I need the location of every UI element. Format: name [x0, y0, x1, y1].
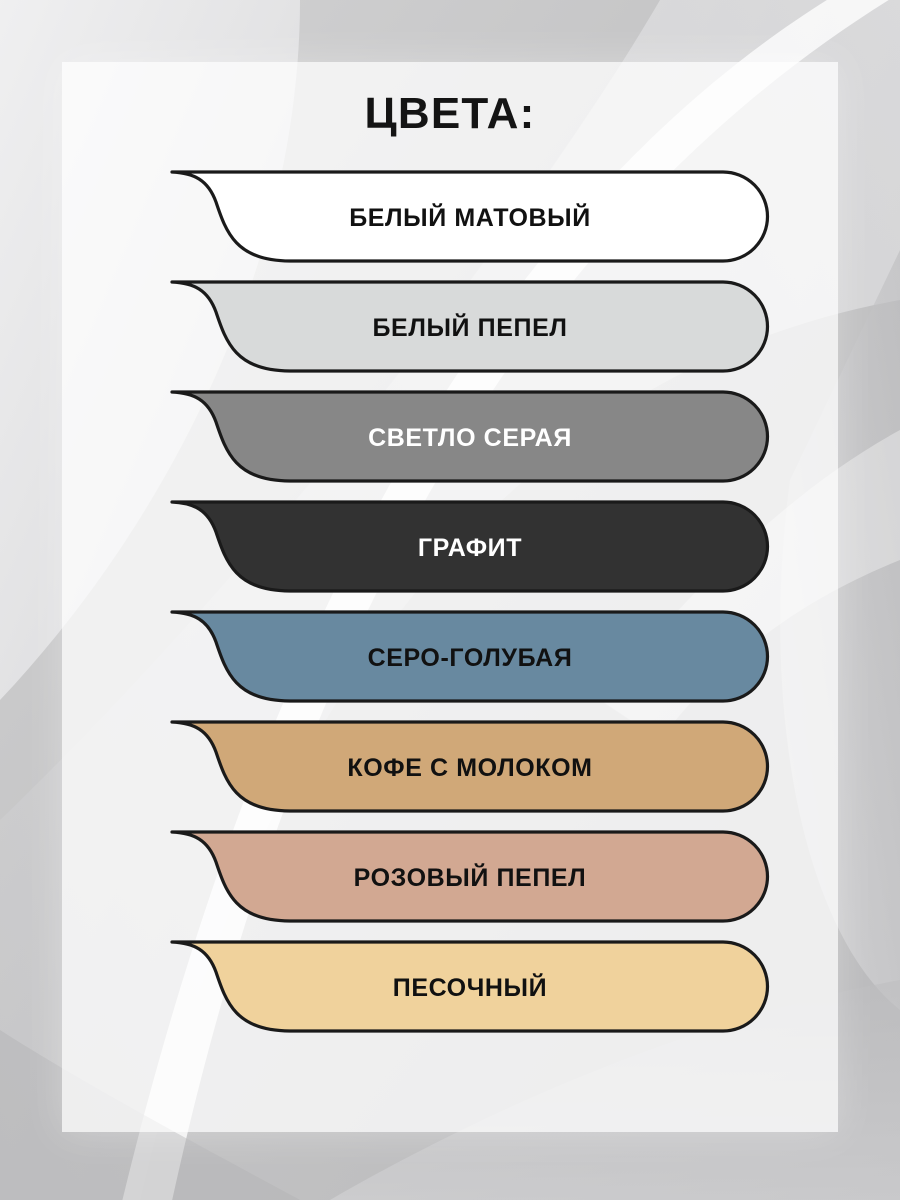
swatch-path-1 [172, 282, 768, 371]
color-swatch-list: БЕЛЫЙ МАТОВЫЙ БЕЛЫЙ ПЕПЕЛ СВЕТЛО СЕРАЯ [62, 170, 838, 1033]
swatch-shape-icon [170, 500, 770, 593]
swatch-path-7 [172, 942, 768, 1031]
color-swatch-item[interactable]: КОФЕ С МОЛОКОМ [170, 720, 770, 813]
color-swatch-item[interactable]: БЕЛЫЙ МАТОВЫЙ [170, 170, 770, 263]
swatch-shape-icon [170, 940, 770, 1033]
swatch-shape-icon [170, 280, 770, 373]
page-title: ЦВЕТА: [62, 92, 838, 136]
color-swatch-item[interactable]: РОЗОВЫЙ ПЕПЕЛ [170, 830, 770, 923]
color-swatch-item[interactable]: СЕРО-ГОЛУБАЯ [170, 610, 770, 703]
swatch-shape-icon [170, 720, 770, 813]
color-swatch-item[interactable]: СВЕТЛО СЕРАЯ [170, 390, 770, 483]
swatch-path-0 [172, 172, 768, 261]
swatch-path-5 [172, 722, 768, 811]
color-swatch-item[interactable]: ГРАФИТ [170, 500, 770, 593]
swatch-path-2 [172, 392, 768, 481]
product-color-card: ЦВЕТА: БЕЛЫЙ МАТОВЫЙ БЕЛЫЙ ПЕПЕЛ [0, 0, 900, 1200]
swatch-shape-icon [170, 390, 770, 483]
color-swatch-item[interactable]: ПЕСОЧНЫЙ [170, 940, 770, 1033]
color-swatch-item[interactable]: БЕЛЫЙ ПЕПЕЛ [170, 280, 770, 373]
swatch-shape-icon [170, 170, 770, 263]
swatch-path-4 [172, 612, 768, 701]
swatch-path-6 [172, 832, 768, 921]
swatch-shape-icon [170, 830, 770, 923]
swatch-shape-icon [170, 610, 770, 703]
content-card: ЦВЕТА: БЕЛЫЙ МАТОВЫЙ БЕЛЫЙ ПЕПЕЛ [62, 62, 838, 1132]
swatch-path-3 [172, 502, 768, 591]
